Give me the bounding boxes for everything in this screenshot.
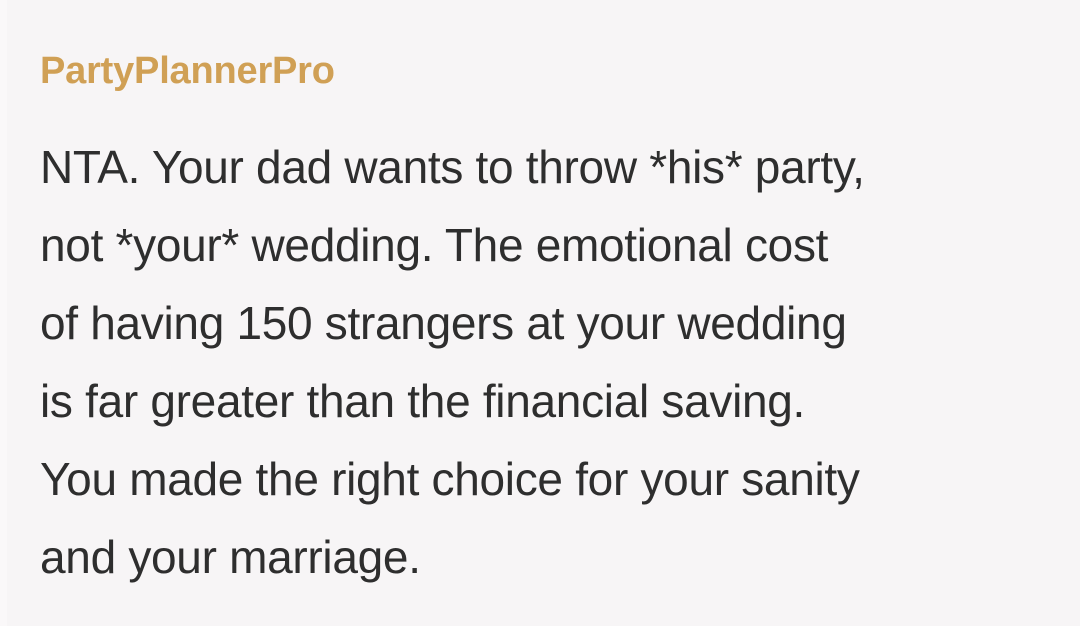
comment-text-line: of having 150 strangers at your wedding — [40, 284, 1050, 362]
comment-text-line: You made the right choice for your sanit… — [40, 440, 1050, 518]
comment-text-line: NTA. Your dad wants to throw *his* party… — [40, 128, 1050, 206]
comment-author-name[interactable]: PartyPlannerPro — [40, 48, 335, 94]
comment-text: NTA. Your dad wants to throw *his* party… — [40, 128, 1050, 596]
comment-text-line: not *your* wedding. The emotional cost — [40, 206, 1050, 284]
comment-content: PartyPlannerPro NTA. Your dad wants to t… — [40, 0, 1050, 626]
comment-text-line: and your marriage. — [40, 518, 1050, 596]
comment-card: PartyPlannerPro NTA. Your dad wants to t… — [0, 0, 1080, 626]
comment-text-line: is far greater than the financial saving… — [40, 362, 1050, 440]
left-gutter-strip — [0, 0, 7, 626]
